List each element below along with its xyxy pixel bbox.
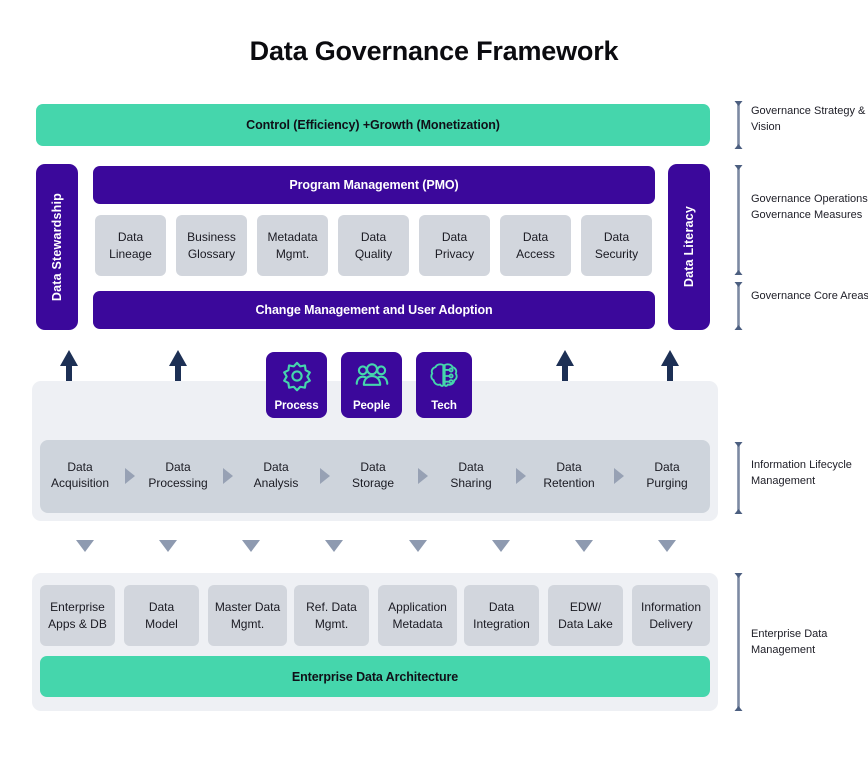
lifecycle-step-line1: Data [67,460,92,474]
down-triangle-icon [242,540,260,552]
core-area-card: Metadata Mgmt. [257,215,328,276]
enterprise-card-line1: Ref. Data [306,600,357,614]
caption-text: Governance Operations Governance Measure… [751,193,868,221]
gear-icon [280,359,314,393]
down-triangle-icon [492,540,510,552]
pillar-tile-process[interactable]: Process [266,352,327,418]
core-area-line1: Data [523,230,548,244]
lifecycle-step-line1: Data [458,460,483,474]
caption-operations: Governance Operations Governance Measure… [751,192,868,224]
data-stewardship-label: Data Stewardship [50,193,64,301]
caption-text: Information Lifecycle Management [751,459,852,487]
enterprise-architecture-bar: Enterprise Data Architecture [40,656,710,697]
enterprise-card-line1: Data [149,600,174,614]
core-area-card: Data Security [581,215,652,276]
lifecycle-arrow-icon [125,468,135,484]
caption-lifecycle: Information Lifecycle Management [751,458,868,490]
change-management-bar: Change Management and User Adoption [93,291,655,329]
lifecycle-step: Data Purging [627,459,707,491]
pillar-tile-people[interactable]: People [341,352,402,418]
enterprise-card-line2: Metadata [392,617,442,631]
enterprise-card-line2: Integration [473,617,530,631]
bracket-operations [734,165,743,275]
core-area-line2: Mgmt. [276,247,309,261]
brain-circuit-icon [427,359,461,393]
core-area-card: Data Quality [338,215,409,276]
data-stewardship-pill: Data Stewardship [36,164,78,330]
lifecycle-arrow-icon [418,468,428,484]
down-triangle-icon [76,540,94,552]
enterprise-card: Information Delivery [632,585,710,646]
enterprise-card: Enterprise Apps & DB [40,585,115,646]
lifecycle-step-line1: Data [360,460,385,474]
core-area-card: Data Privacy [419,215,490,276]
pillar-tile-tech[interactable]: Tech [416,352,472,418]
core-area-line2: Lineage [109,247,152,261]
core-area-card: Business Glossary [176,215,247,276]
enterprise-card: Ref. Data Mgmt. [294,585,369,646]
enterprise-card: Application Metadata [378,585,457,646]
lifecycle-step-line2: Acquisition [51,476,109,490]
enterprise-card-line2: Mgmt. [231,617,264,631]
core-area-line1: Data [361,230,386,244]
down-triangle-icon [575,540,593,552]
caption-text: Enterprise Data Management [751,628,827,656]
caption-text: Governance Strategy & Vision [751,105,865,133]
program-management-bar: Program Management (PMO) [93,166,655,204]
pillar-label: Tech [431,400,457,412]
core-area-line2: Quality [355,247,392,261]
lifecycle-step-line2: Storage [352,476,394,490]
enterprise-card: Data Integration [464,585,539,646]
caption-enterprise: Enterprise Data Management [751,627,868,659]
caption-text: Governance Core Areas [751,290,868,302]
lifecycle-step: Data Storage [333,459,413,491]
core-area-line1: Business [187,230,236,244]
lifecycle-arrow-icon [516,468,526,484]
core-area-line1: Data [442,230,467,244]
program-management-label: Program Management (PMO) [289,178,458,192]
enterprise-card-line1: Information [641,600,701,614]
enterprise-architecture-label: Enterprise Data Architecture [292,670,458,684]
lifecycle-step-line1: Data [654,460,679,474]
lifecycle-arrow-icon [223,468,233,484]
core-area-card: Data Lineage [95,215,166,276]
bracket-strategy [734,101,743,149]
bracket-lifecycle [734,442,743,514]
people-group-icon [355,359,389,393]
enterprise-card-line2: Model [145,617,178,631]
pillar-label: People [353,400,390,412]
bracket-enterprise [734,573,743,711]
core-area-line1: Metadata [267,230,317,244]
caption-strategy: Governance Strategy & Vision [751,104,868,136]
lifecycle-step: Data Acquisition [40,459,120,491]
data-literacy-pill: Data Literacy [668,164,710,330]
lifecycle-step: Data Analysis [236,459,316,491]
enterprise-card-line1: Enterprise [50,600,105,614]
enterprise-card-line1: Master Data [215,600,280,614]
enterprise-card-line2: Data Lake [558,617,613,631]
core-area-line2: Security [595,247,638,261]
enterprise-card-line1: Application [388,600,447,614]
core-area-line2: Privacy [435,247,474,261]
strategy-bar-label: Control (Efficiency) +Growth (Monetizati… [246,118,500,132]
core-area-card: Data Access [500,215,571,276]
page-title: Data Governance Framework [0,36,868,67]
core-area-line2: Glossary [188,247,235,261]
pillar-label: Process [274,400,318,412]
lifecycle-step-line2: Purging [646,476,687,490]
lifecycle-step: Data Sharing [431,459,511,491]
enterprise-card: Master Data Mgmt. [208,585,287,646]
change-management-label: Change Management and User Adoption [255,303,492,317]
core-area-line1: Data [118,230,143,244]
enterprise-card: Data Model [124,585,199,646]
bracket-core-areas [734,282,743,330]
down-triangle-icon [159,540,177,552]
down-triangle-icon [409,540,427,552]
lifecycle-step-line2: Analysis [254,476,299,490]
down-triangle-icon [325,540,343,552]
lifecycle-step: Data Processing [138,459,218,491]
enterprise-card-line2: Mgmt. [315,617,348,631]
lifecycle-step-line1: Data [165,460,190,474]
lifecycle-step-line1: Data [263,460,288,474]
lifecycle-step-line2: Retention [543,476,594,490]
enterprise-card-line2: Delivery [649,617,692,631]
data-literacy-label: Data Literacy [682,206,696,287]
lifecycle-step-line2: Sharing [450,476,491,490]
lifecycle-step: Data Retention [529,459,609,491]
core-area-line2: Access [516,247,555,261]
lifecycle-arrow-icon [320,468,330,484]
enterprise-card: EDW/ Data Lake [548,585,623,646]
diagram-canvas: Data Governance Framework Control (Effic… [0,0,868,769]
enterprise-card-line1: EDW/ [570,600,601,614]
lifecycle-arrow-icon [614,468,624,484]
lifecycle-step-line1: Data [556,460,581,474]
core-area-line1: Data [604,230,629,244]
enterprise-card-line1: Data [489,600,514,614]
down-triangle-icon [658,540,676,552]
caption-core-areas: Governance Core Areas [751,289,868,305]
strategy-bar: Control (Efficiency) +Growth (Monetizati… [36,104,710,146]
lifecycle-step-line2: Processing [148,476,207,490]
enterprise-card-line2: Apps & DB [48,617,107,631]
